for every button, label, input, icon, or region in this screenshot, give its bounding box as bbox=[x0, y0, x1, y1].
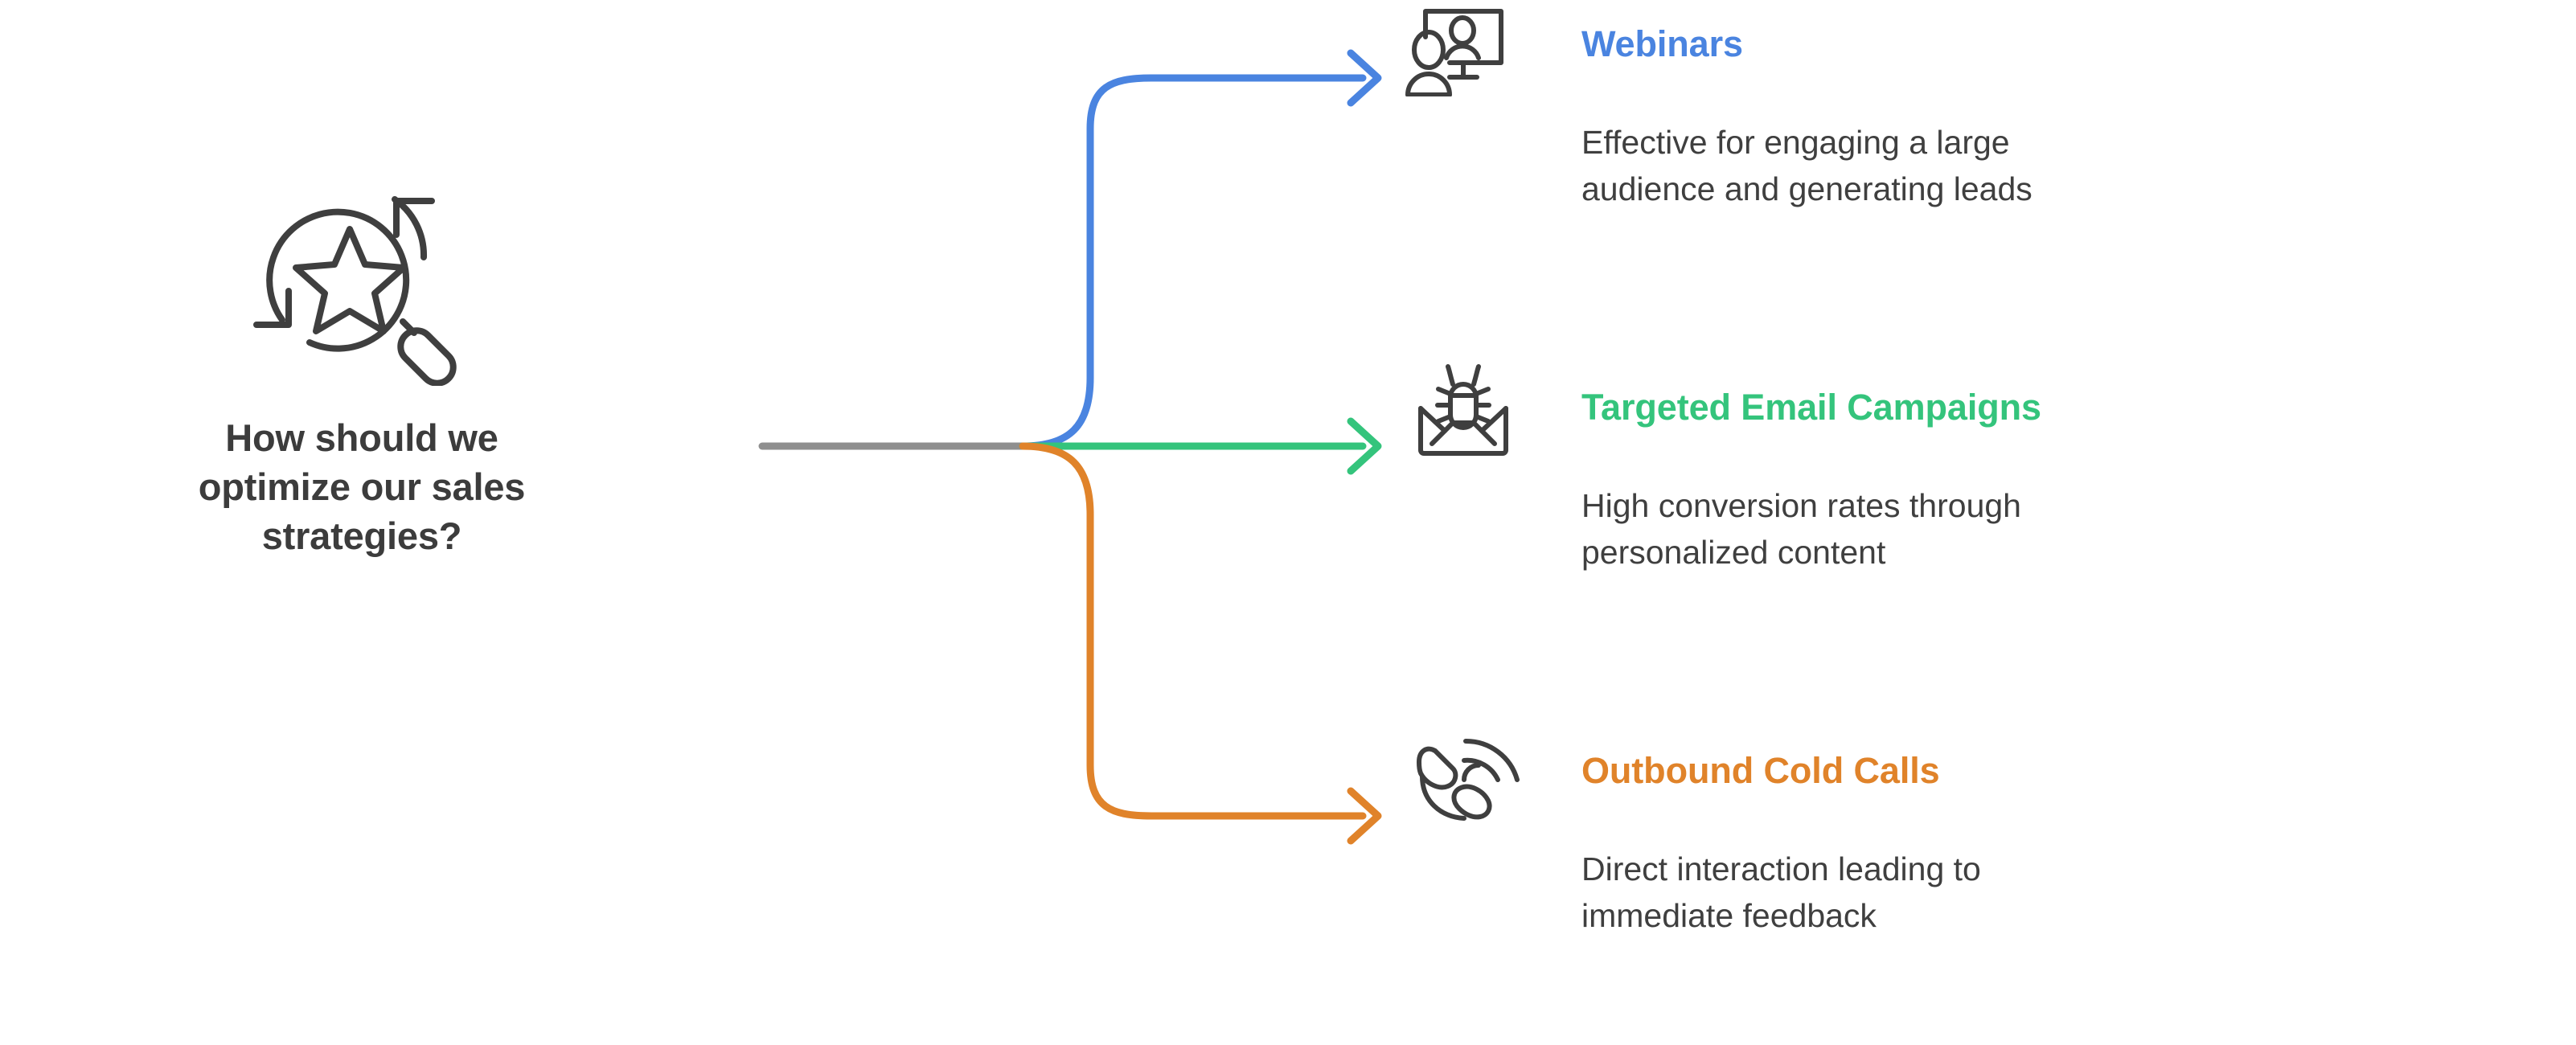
root-label-line-2: optimize our sales bbox=[161, 462, 563, 511]
branch-webinars[interactable]: Webinars Effective for engaging a large … bbox=[1403, 0, 2545, 96]
branch-calls-description-line-1: Direct interaction leading to bbox=[1581, 846, 2305, 892]
branch-email-description-line-2: personalized content bbox=[1581, 529, 2305, 576]
magnifier-star-refresh-icon bbox=[253, 185, 470, 386]
diagram-canvas: How should we optimize our sales strateg… bbox=[0, 0, 2576, 1045]
envelope-bug-icon bbox=[1403, 363, 1524, 460]
branch-email-head: Targeted Email Campaigns bbox=[1403, 363, 2545, 460]
arrowhead-webinars bbox=[1351, 53, 1378, 103]
arrowhead-calls bbox=[1351, 791, 1378, 841]
branch-webinars-description-line-2: audience and generating leads bbox=[1581, 166, 2305, 212]
root-label-line-3: strategies? bbox=[161, 511, 563, 560]
arrowhead-email bbox=[1351, 421, 1378, 471]
webinar-presenter-monitor-icon bbox=[1403, 0, 1524, 96]
branch-email[interactable]: Targeted Email Campaigns High conversion… bbox=[1403, 363, 2545, 460]
branch-email-description: High conversion rates through personaliz… bbox=[1581, 482, 2305, 576]
branch-calls[interactable]: Outbound Cold Calls Direct interaction l… bbox=[1403, 727, 2545, 823]
branch-calls-description: Direct interaction leading to immediate … bbox=[1581, 846, 2305, 939]
connector-webinars bbox=[1023, 78, 1363, 446]
branch-webinars-title: Webinars bbox=[1581, 24, 1743, 64]
branch-email-title: Targeted Email Campaigns bbox=[1581, 387, 2041, 428]
branch-calls-description-line-2: immediate feedback bbox=[1581, 892, 2305, 939]
root-label-line-1: How should we bbox=[161, 413, 563, 462]
connector-calls bbox=[1023, 446, 1363, 816]
ringing-phone-handset-icon bbox=[1403, 727, 1524, 823]
branch-webinars-head: Webinars bbox=[1403, 0, 2545, 96]
branch-calls-head: Outbound Cold Calls bbox=[1403, 727, 2545, 823]
branch-webinars-description-line-1: Effective for engaging a large bbox=[1581, 119, 2305, 166]
branch-email-description-line-1: High conversion rates through bbox=[1581, 482, 2305, 529]
branch-calls-title: Outbound Cold Calls bbox=[1581, 751, 1940, 791]
root-node: How should we optimize our sales strateg… bbox=[161, 185, 563, 560]
root-label: How should we optimize our sales strateg… bbox=[161, 413, 563, 560]
branch-webinars-description: Effective for engaging a large audience … bbox=[1581, 119, 2305, 212]
